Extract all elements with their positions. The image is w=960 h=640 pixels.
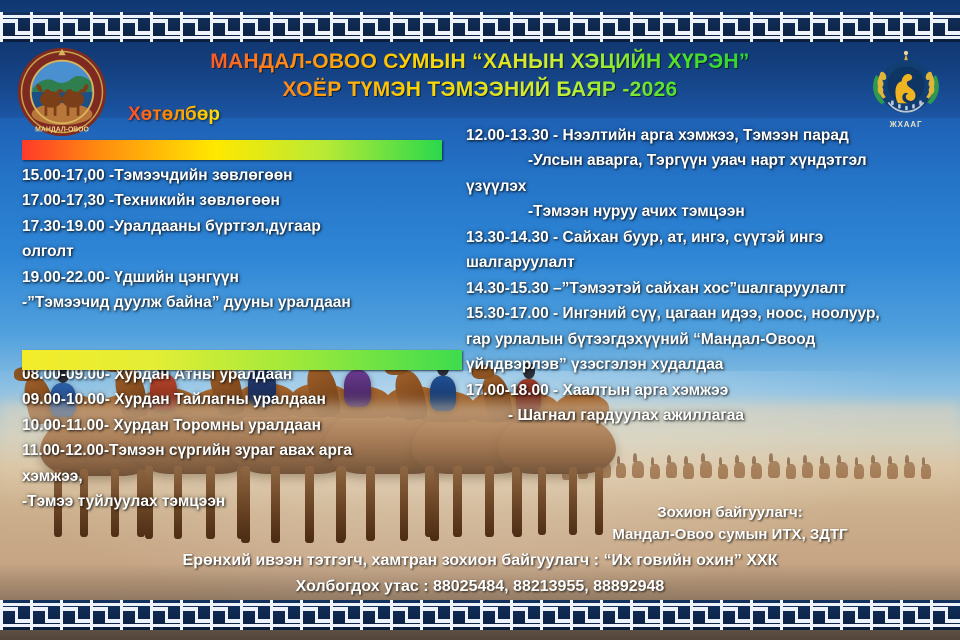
list-item: олголт	[22, 240, 454, 264]
right-program-list: 12.00-13.30 - Нээлтийн арга хэмжээ, Тэмэ…	[466, 124, 954, 430]
left-date-heading-2: 2026 оны 01 сарын 27-ны өдөр	[22, 350, 462, 370]
list-item: -”Тэмээчид дуулж байна” дууны уралдаан	[22, 291, 454, 315]
organizer-block: Зохион байгуулагч: Мандал-Овоо сумын ИТХ…	[520, 502, 940, 546]
meander-border-top	[0, 12, 960, 42]
list-item: -Тэмээн нуруу ачих тэмцээн	[466, 200, 954, 224]
meander-border-bottom	[0, 600, 960, 630]
title-line-1: МАНДАЛ-ОВОО СУМЫН “ХАНЫН ХЭЦИЙН ХҮРЭН”	[160, 48, 800, 76]
list-item: 14.30-15.30 –”Тэмээтэй сайхан хос”шалгар…	[466, 277, 954, 301]
list-item: -Улсын аварга, Тэргүүн уяач нарт хүндэтг…	[466, 149, 954, 173]
mandal-ovoo-emblem-logo: МАНДАЛ-ОВОО	[16, 46, 108, 138]
left-date-heading-1: 2026-01 сарын 26-ны өдөр	[22, 140, 442, 160]
list-item: 19.00-22.00- Үдшийн цэнгүүн	[22, 266, 454, 290]
zhkhaag-emblem-logo: ЖХААГ	[862, 44, 950, 136]
list-item: 11.00-12.00-Тэмээн сүргийн зураг авах ар…	[22, 439, 454, 463]
list-item: 15.30-17.00 - Ингэний сүү, цагаан идээ, …	[466, 302, 954, 326]
poster-root: МАНДАЛ-ОВОО	[0, 0, 960, 640]
list-item: 09.00-10.00- Хурдан Тайлагны уралдаан	[22, 388, 454, 412]
list-item: 17.00-18.00 - Хаалтын арга хэмжээ	[466, 379, 954, 403]
svg-text:МАНДАЛ-ОВОО: МАНДАЛ-ОВОО	[35, 127, 89, 134]
list-item: хэмжээ,	[22, 465, 454, 489]
contact-line: Холбогдох утас : 88025484, 88213955, 888…	[80, 578, 880, 596]
list-item: шалгаруулалт	[466, 251, 954, 275]
poster-title: МАНДАЛ-ОВОО СУМЫН “ХАНЫН ХЭЦИЙН ХҮРЭН” Х…	[160, 48, 800, 103]
organizer-label: Зохион байгуулагч:	[520, 502, 940, 524]
left-program-list: 15.00-17,00 -Тэмээчдийн зөвлөгөөн 17.00-…	[22, 164, 454, 516]
list-item: үйлдвэрлэв” үзэсгэлэн худалдаа	[466, 353, 954, 377]
list-item: гар урлалын бүтээгдэхүүний “Мандал-Овоод	[466, 328, 954, 352]
list-item: үзүүлэх	[466, 175, 954, 199]
list-item: 17.30-19.00 -Уралдааны бүртгэл,дугаар	[22, 215, 454, 239]
program-heading: Хөтөлбөр	[128, 104, 308, 126]
title-line-2: ХОЁР ТҮМЭН ТЭМЭЭНИЙ БАЯР -2026	[160, 76, 800, 104]
spacer	[22, 317, 454, 333]
sponsor-line: Ерөнхий ивээн тэтгэгч, хамтран зохион ба…	[80, 552, 880, 570]
list-item: 15.00-17,00 -Тэмээчдийн зөвлөгөөн	[22, 164, 454, 188]
svg-text:ЖХААГ: ЖХААГ	[889, 120, 923, 129]
list-item: -Тэмээ туйлуулах тэмцээн	[22, 490, 454, 514]
list-item: - Шагнал гардуулах ажиллагаа	[466, 404, 954, 428]
organizer-name: Мандал-Овоо сумын ИТХ, ЗДТГ	[520, 524, 940, 546]
list-item: 13.30-14.30 - Сайхан буур, ат, ингэ, сүү…	[466, 226, 954, 250]
list-item: 17.00-17,30 -Техникийн зөвлөгөөн	[22, 189, 454, 213]
list-item: 10.00-11.00- Хурдан Торомны уралдаан	[22, 414, 454, 438]
